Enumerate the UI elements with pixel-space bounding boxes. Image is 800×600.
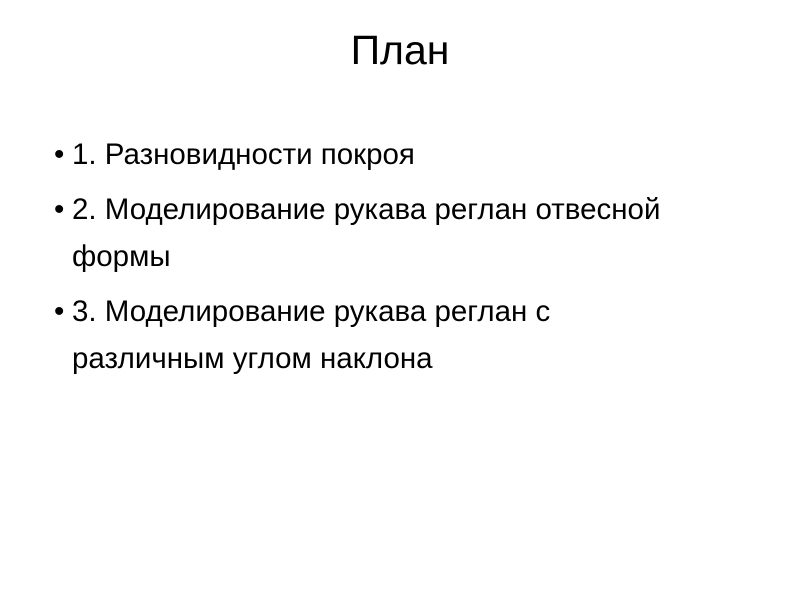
list-item: • 3. Моделирование рукава реглан с разли… [48, 288, 702, 382]
presentation-slide: План • 1. Разновидности покроя • 2. Моде… [0, 0, 800, 600]
slide-content-body: • 1. Разновидности покроя • 2. Моделиров… [48, 131, 738, 382]
page-title: План [0, 26, 800, 74]
bullet-list: • 1. Разновидности покроя • 2. Моделиров… [48, 131, 738, 382]
list-item: • 1. Разновидности покроя [48, 131, 697, 178]
bullet-point-icon: • [54, 288, 68, 335]
bullet-point-icon: • [54, 131, 68, 178]
list-item-label: 3. Моделирование рукава реглан с различн… [72, 295, 550, 375]
list-item-label: 1. Разновидности покроя [72, 138, 415, 171]
list-item: • 2. Моделирование рукава реглан отвесно… [48, 186, 672, 280]
list-item-label: 2. Моделирование рукава реглан отвесной … [72, 193, 660, 273]
bullet-point-icon: • [54, 186, 68, 233]
